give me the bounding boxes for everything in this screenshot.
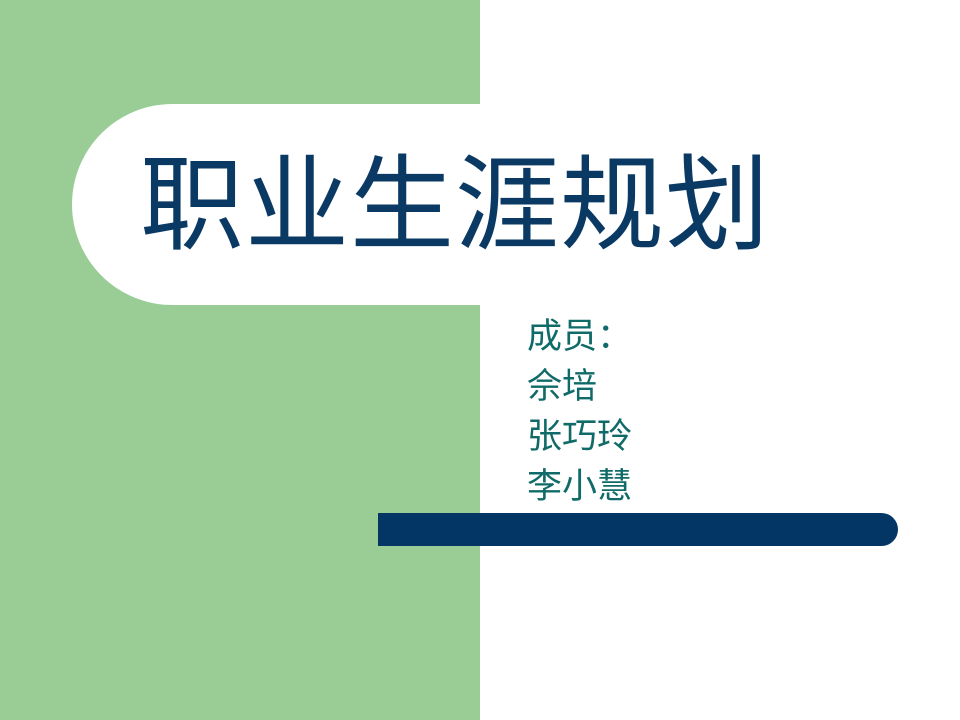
page-title: 职业生涯规划 — [140, 130, 900, 280]
list-item: 李小慧 — [527, 462, 907, 512]
presentation-slide: 职业生涯规划 成员： 佘培 张巧玲 李小慧 — [0, 0, 960, 720]
accent-bar-shape — [378, 513, 898, 546]
list-item: 佘培 — [527, 362, 907, 412]
members-heading: 成员： — [527, 312, 907, 362]
members-list: 成员： 佘培 张巧玲 李小慧 — [527, 312, 907, 512]
list-item: 张巧玲 — [527, 412, 907, 462]
